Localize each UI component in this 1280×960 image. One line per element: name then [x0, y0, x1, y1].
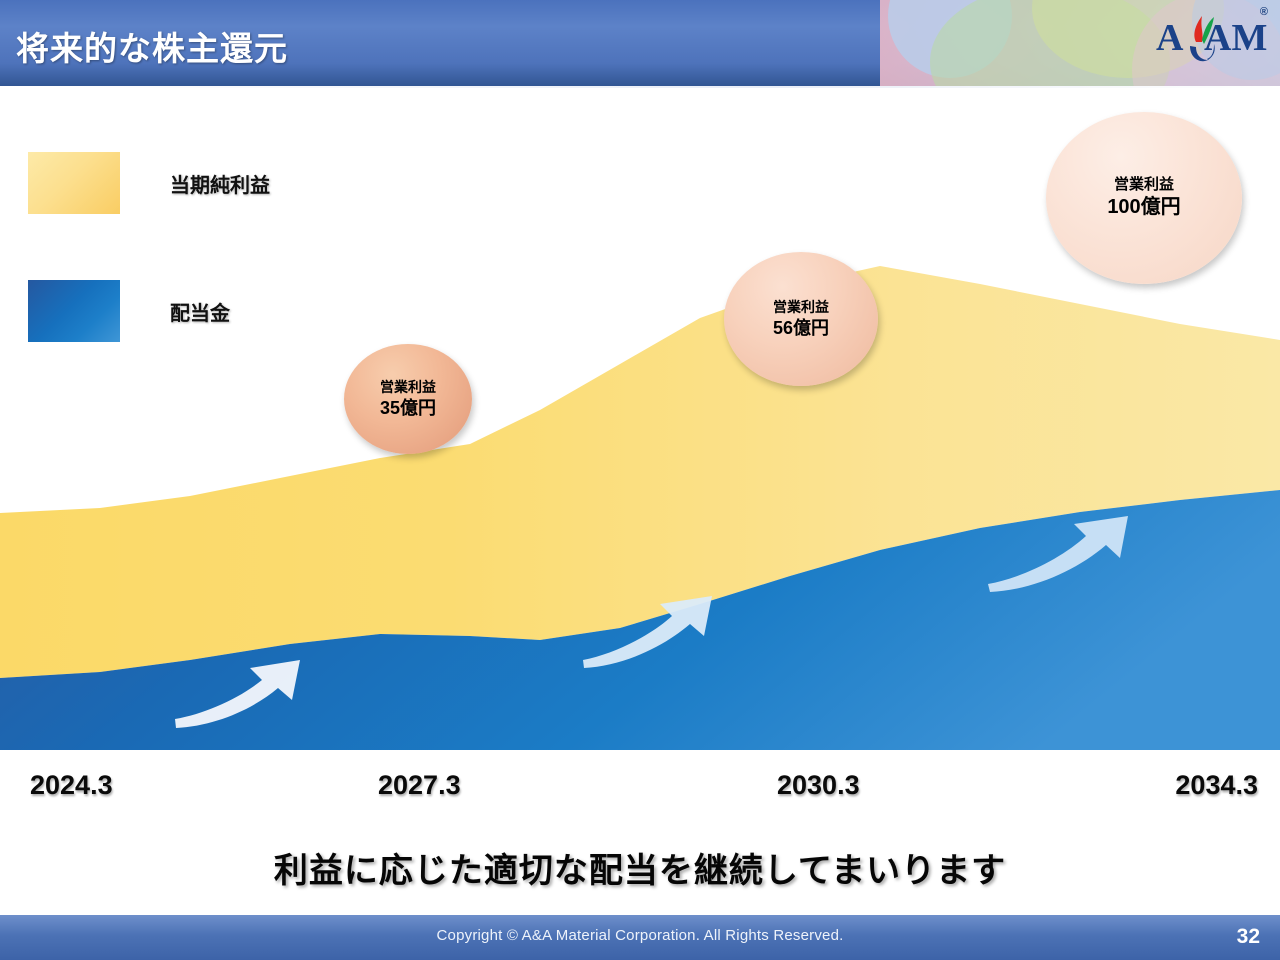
axis-label-2034: 2034.3 [1175, 770, 1258, 801]
page-number: 32 [1237, 925, 1260, 949]
operating-profit-bubble-2027: 営業利益 35億円 [344, 344, 472, 454]
legend-item-net-income: 当期純利益 [28, 152, 328, 214]
aam-logo-mark: A AM [1152, 6, 1272, 68]
legend-label-dividend: 配当金 [170, 297, 230, 326]
legend-item-dividend: 配当金 [28, 280, 328, 342]
axis-label-2030: 2030.3 [777, 770, 860, 801]
dividend-swatch-icon [28, 280, 120, 342]
bubble-title: 営業利益 [380, 379, 436, 397]
page-title: 将来的な株主還元 [16, 22, 288, 70]
x-axis: 2024.3 2027.3 2030.3 2034.3 [0, 750, 1280, 825]
bubble-title: 営業利益 [773, 299, 829, 317]
bubble-value: 56億円 [773, 317, 829, 340]
slide-header: 将来的な株主還元 A AM ® [0, 0, 1280, 88]
bubble-value: 100億円 [1107, 195, 1180, 220]
copyright-text: Copyright © A&A Material Corporation. Al… [0, 927, 1280, 944]
chart-legend: 当期純利益 配当金 [28, 152, 328, 408]
operating-profit-bubble-2034: 営業利益 100億円 [1046, 112, 1242, 284]
registered-trademark-icon: ® [1260, 6, 1268, 18]
net-income-swatch-icon [28, 152, 120, 214]
axis-label-2027: 2027.3 [378, 770, 461, 801]
slide-caption: 利益に応じた適切な配当を継続してまいります [0, 843, 1280, 892]
axis-label-2024: 2024.3 [30, 770, 113, 801]
bubble-value: 35億円 [380, 397, 436, 420]
legend-label-net-income: 当期純利益 [170, 169, 270, 198]
operating-profit-bubble-2030: 営業利益 56億円 [724, 252, 878, 386]
slide: 将来的な株主還元 A AM ® [0, 0, 1280, 960]
bubble-title: 営業利益 [1114, 176, 1174, 195]
slide-footer: Copyright © A&A Material Corporation. Al… [0, 915, 1280, 960]
aam-logo: A AM ® [1152, 6, 1272, 68]
svg-text:A: A [1156, 17, 1184, 59]
